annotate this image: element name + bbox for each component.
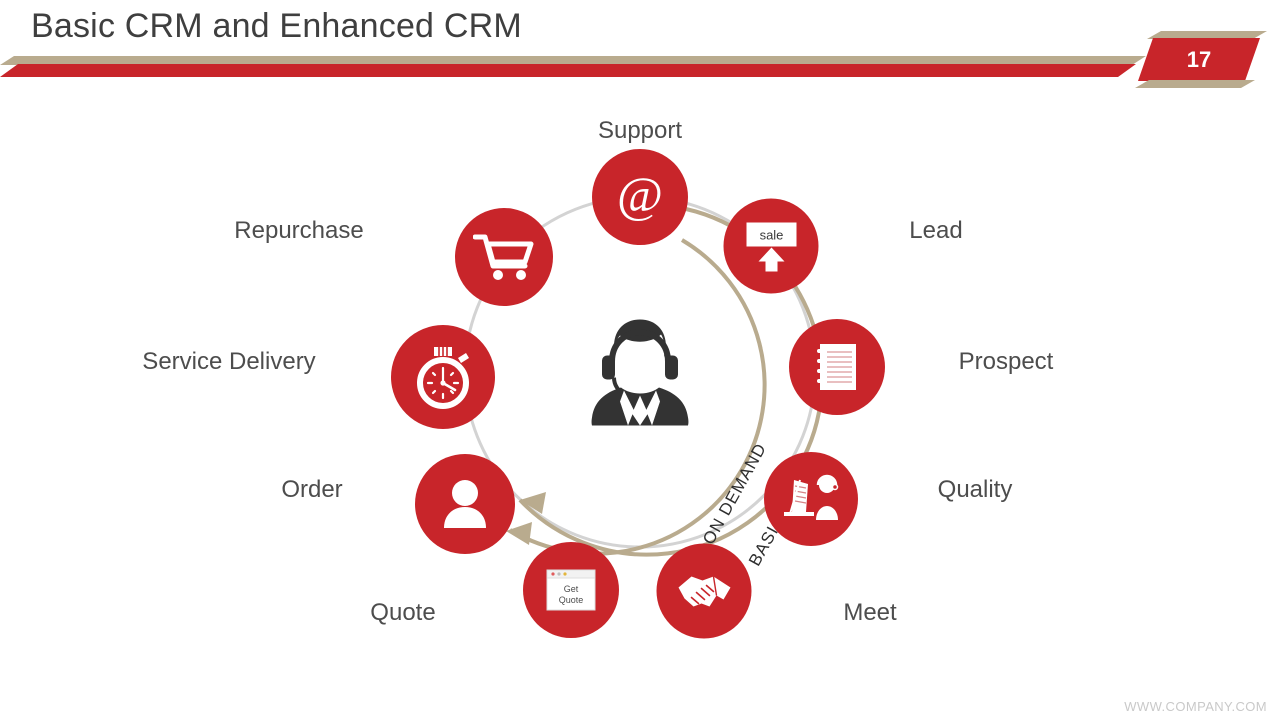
sale-sign-icon: sale (742, 219, 800, 273)
slide-canvas: Basic CRM and Enhanced CRM 17 CRM ON DEM… (0, 0, 1280, 720)
shopping-cart-icon (473, 232, 535, 282)
label-quote: Quote (370, 599, 435, 627)
label-meet: Meet (843, 599, 896, 627)
slide-header: Basic CRM and Enhanced CRM 17 (0, 0, 1280, 90)
node-quote[interactable]: Get Quote (523, 542, 619, 638)
svg-text:sale: sale (759, 227, 783, 242)
handshake-icon (675, 568, 733, 614)
node-support[interactable]: @ (592, 149, 688, 245)
page-number-label: 17 (1138, 38, 1260, 81)
label-order: Order (281, 476, 342, 504)
notepad-icon (815, 341, 859, 393)
get-quote-window-icon: Get Quote (544, 566, 598, 614)
label-lead: Lead (909, 217, 962, 245)
header-red-bar (0, 64, 1136, 77)
node-lead[interactable]: sale (724, 199, 819, 294)
page-title: Basic CRM and Enhanced CRM (31, 7, 522, 46)
headset-operator-icon (580, 310, 700, 435)
label-repurchase: Repurchase (234, 217, 363, 245)
node-prospect[interactable] (789, 319, 885, 415)
at-sign-icon: @ (612, 169, 668, 225)
header-tan-bar (0, 56, 1146, 65)
label-service-delivery: Service Delivery (142, 348, 315, 376)
quality-check-icon (782, 474, 840, 524)
svg-text:Quote: Quote (559, 595, 584, 605)
node-service-delivery[interactable] (391, 325, 495, 429)
crm-cycle-diagram: CRM ON DEMAND BASIC CRM (0, 90, 1280, 675)
node-repurchase[interactable] (455, 208, 553, 306)
label-support: Support (598, 117, 682, 145)
label-prospect: Prospect (959, 348, 1054, 376)
footer-website-url: WWW.COMPANY.COM (1124, 699, 1267, 714)
svg-text:Get: Get (564, 584, 579, 594)
stopwatch-icon (412, 345, 474, 409)
label-quality: Quality (938, 476, 1013, 504)
node-order[interactable] (415, 454, 515, 554)
person-icon (441, 478, 489, 530)
node-meet[interactable] (657, 544, 752, 639)
svg-text:@: @ (617, 169, 663, 222)
node-quality[interactable] (764, 452, 858, 546)
badge-tan-accent-bottom (1135, 80, 1255, 88)
